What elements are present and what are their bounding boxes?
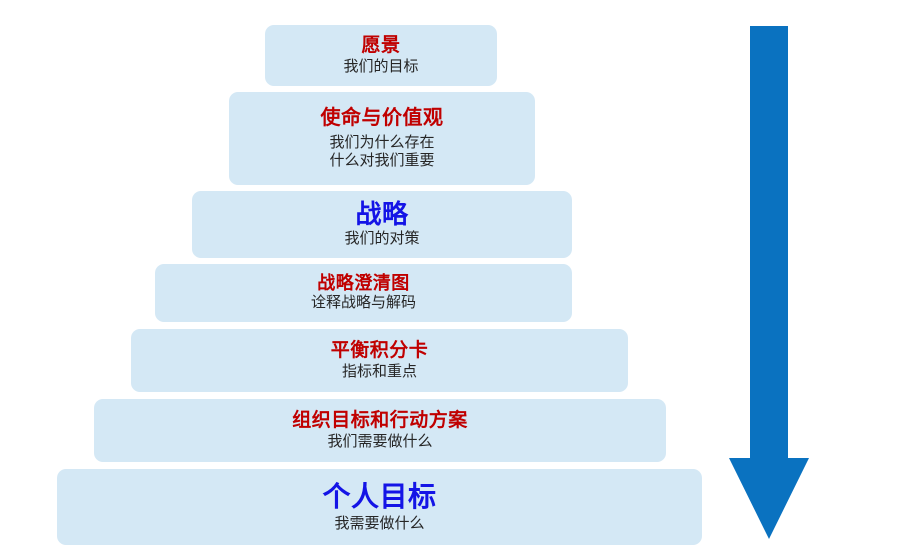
tier-subtitle: 我们需要做什么 xyxy=(327,433,432,451)
pyramid-tier-6[interactable]: 组织目标和行动方案 我们需要做什么 xyxy=(94,399,666,462)
tier-subtitle: 我们的目标 xyxy=(343,58,418,76)
tier-subtitle: 指标和重点 xyxy=(342,363,417,381)
pyramid-tier-5[interactable]: 平衡积分卡 指标和重点 xyxy=(131,329,628,392)
tier-subtitle: 我们为什么存在 什么对我们重要 xyxy=(329,134,434,171)
tier-subtitle: 我们的对策 xyxy=(344,230,419,248)
tier-title: 平衡积分卡 xyxy=(331,340,429,361)
down-arrow-shape xyxy=(729,26,809,539)
tier-title: 个人目标 xyxy=(322,481,436,512)
tier-title: 战略澄清图 xyxy=(317,273,410,293)
tier-title: 战略 xyxy=(355,200,408,229)
down-arrow-icon xyxy=(729,26,809,539)
pyramid-tier-1[interactable]: 愿景 我们的目标 xyxy=(265,25,497,86)
diagram-canvas: 愿景 我们的目标 使命与价值观 我们为什么存在 什么对我们重要 战略 我们的对策… xyxy=(0,0,919,559)
pyramid-tier-7[interactable]: 个人目标 我需要做什么 xyxy=(57,469,702,545)
pyramid-tier-4[interactable]: 战略澄清图 诠释战略与解码 xyxy=(155,264,572,322)
tier-title: 愿景 xyxy=(361,35,400,56)
tier-title: 使命与价值观 xyxy=(321,107,444,129)
tier-title: 组织目标和行动方案 xyxy=(292,410,468,431)
pyramid-tier-2[interactable]: 使命与价值观 我们为什么存在 什么对我们重要 xyxy=(229,92,535,185)
tier-subtitle: 我需要做什么 xyxy=(334,515,424,533)
pyramid-tier-3[interactable]: 战略 我们的对策 xyxy=(192,191,572,258)
tier-subtitle: 诠释战略与解码 xyxy=(311,294,416,312)
